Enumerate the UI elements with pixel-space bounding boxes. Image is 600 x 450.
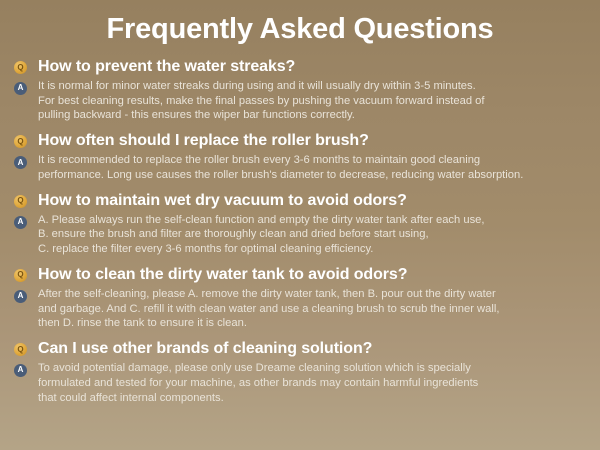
faq-answer-line: It is recommended to replace the roller … (38, 153, 523, 168)
faq-answer-line: B. ensure the brush and filter are thoro… (38, 227, 485, 242)
faq-answer-line: and garbage. And C. refill it with clean… (38, 302, 499, 317)
faq-answer-text: It is normal for minor water streaks dur… (38, 79, 485, 123)
faq-answer-line: For best cleaning results, make the fina… (38, 94, 485, 109)
faq-answer-line: It is normal for minor water streaks dur… (38, 79, 485, 94)
question-badge-icon: Q (14, 269, 27, 282)
faq-answer-line: pulling backward - this ensures the wipe… (38, 108, 485, 123)
faq-answer-row: AIt is normal for minor water streaks du… (14, 79, 586, 123)
faq-answer-text: After the self-cleaning, please A. remov… (38, 287, 499, 331)
question-badge-icon: Q (14, 343, 27, 356)
faq-answer-line: After the self-cleaning, please A. remov… (38, 287, 499, 302)
answer-badge-icon: A (14, 290, 27, 303)
faq-answer-row: AA. Please always run the self-clean fun… (14, 213, 586, 257)
faq-question-text: How to clean the dirty water tank to avo… (38, 266, 407, 285)
faq-question-row[interactable]: QHow to clean the dirty water tank to av… (14, 266, 586, 285)
faq-answer-line: To avoid potential damage, please only u… (38, 361, 478, 376)
faq-answer-line: A. Please always run the self-clean func… (38, 213, 485, 228)
faq-answer-row: ATo avoid potential damage, please only … (14, 361, 586, 405)
faq-item[interactable]: QCan I use other brands of cleaning solu… (14, 340, 586, 405)
faq-answer-text: It is recommended to replace the roller … (38, 153, 523, 183)
faq-list: QHow to prevent the water streaks?AIt is… (0, 58, 600, 405)
faq-page: Frequently Asked Questions QHow to preve… (0, 0, 600, 450)
page-title: Frequently Asked Questions (0, 0, 600, 44)
answer-badge-icon: A (14, 156, 27, 169)
faq-answer-row: AAfter the self-cleaning, please A. remo… (14, 287, 586, 331)
faq-answer-line: that could affect internal components. (38, 391, 478, 406)
faq-answer-line: C. replace the filter every 3-6 months f… (38, 242, 485, 257)
faq-answer-line: then D. rinse the tank to ensure it is c… (38, 316, 499, 331)
faq-question-text: How to prevent the water streaks? (38, 58, 295, 77)
question-badge-icon: Q (14, 135, 27, 148)
faq-question-row[interactable]: QCan I use other brands of cleaning solu… (14, 340, 586, 359)
answer-badge-icon: A (14, 216, 27, 229)
faq-answer-row: AIt is recommended to replace the roller… (14, 153, 586, 183)
faq-item[interactable]: QHow often should I replace the roller b… (14, 132, 586, 182)
faq-question-row[interactable]: QHow to maintain wet dry vacuum to avoid… (14, 192, 586, 211)
faq-answer-line: formulated and tested for your machine, … (38, 376, 478, 391)
question-badge-icon: Q (14, 61, 27, 74)
faq-answer-text: A. Please always run the self-clean func… (38, 213, 485, 257)
faq-item[interactable]: QHow to maintain wet dry vacuum to avoid… (14, 192, 586, 257)
faq-item[interactable]: QHow to prevent the water streaks?AIt is… (14, 58, 586, 123)
question-badge-icon: Q (14, 195, 27, 208)
faq-item[interactable]: QHow to clean the dirty water tank to av… (14, 266, 586, 331)
answer-badge-icon: A (14, 82, 27, 95)
faq-question-text: Can I use other brands of cleaning solut… (38, 340, 372, 359)
faq-question-text: How to maintain wet dry vacuum to avoid … (38, 192, 407, 211)
faq-question-text: How often should I replace the roller br… (38, 132, 369, 151)
faq-answer-text: To avoid potential damage, please only u… (38, 361, 478, 405)
faq-answer-line: performance. Long use causes the roller … (38, 168, 523, 183)
answer-badge-icon: A (14, 364, 27, 377)
faq-question-row[interactable]: QHow often should I replace the roller b… (14, 132, 586, 151)
faq-question-row[interactable]: QHow to prevent the water streaks? (14, 58, 586, 77)
